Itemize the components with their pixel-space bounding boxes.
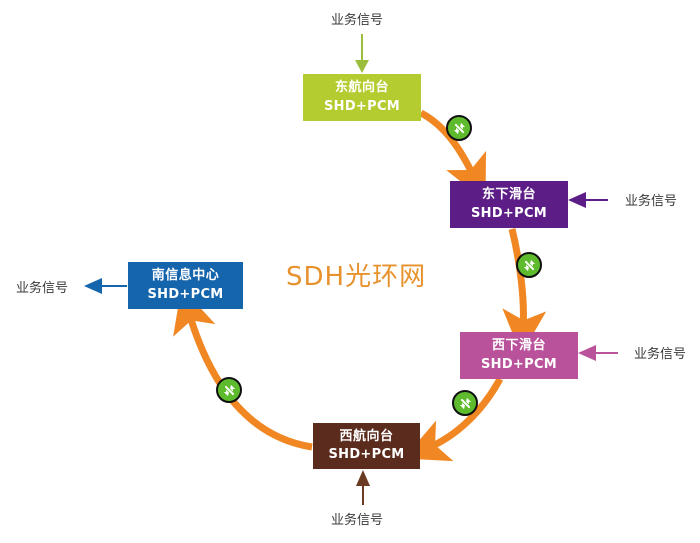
- node-title: 东下滑台: [482, 187, 536, 203]
- signal-connector-west-glide: [578, 345, 618, 361]
- bidirectional-arrow-icon: [452, 121, 467, 136]
- node-title: 东航向台: [335, 80, 389, 96]
- node-title: 西下滑台: [492, 338, 546, 354]
- node-title: 西航向台: [339, 429, 393, 445]
- repeater-2[interactable]: [516, 252, 542, 278]
- signal-connector-south-center: [84, 278, 127, 294]
- node-subtitle: SHD+PCM: [471, 206, 547, 222]
- node-east-nav-station[interactable]: 东航向台 SHD+PCM: [303, 74, 421, 121]
- repeater-1[interactable]: [446, 115, 472, 141]
- bidirectional-arrow-icon: [522, 258, 537, 273]
- node-west-nav-station[interactable]: 西航向台 SHD+PCM: [313, 423, 420, 469]
- center-label-sdh-ring: SDH光环网: [286, 256, 426, 293]
- signal-label-top: 业务信号: [331, 9, 383, 28]
- sdh-ring-network-diagram: 东航向台 SHD+PCM 东下滑台 SHD+PCM 西下滑台 SHD+PCM 西…: [0, 0, 700, 543]
- bidirectional-arrow-icon: [222, 383, 237, 398]
- bidirectional-arrow-icon: [458, 396, 473, 411]
- node-subtitle: SHD+PCM: [328, 447, 404, 463]
- signal-connector-east-glide: [568, 192, 608, 208]
- node-east-glide-station[interactable]: 东下滑台 SHD+PCM: [450, 181, 568, 228]
- signal-label-west-glide: 业务信号: [634, 343, 686, 362]
- signal-connector-bottom: [356, 470, 370, 505]
- ring-segment-west-nav-to-south-center: [189, 313, 312, 447]
- repeater-3[interactable]: [452, 390, 478, 416]
- node-west-glide-station[interactable]: 西下滑台 SHD+PCM: [460, 332, 578, 379]
- signal-connector-top: [355, 34, 369, 73]
- node-subtitle: SHD+PCM: [481, 357, 557, 373]
- signal-label-bottom: 业务信号: [331, 509, 383, 528]
- node-subtitle: SHD+PCM: [324, 99, 400, 115]
- node-south-info-center[interactable]: 南信息中心 SHD+PCM: [128, 262, 243, 309]
- repeater-4[interactable]: [216, 377, 242, 403]
- signal-label-east-glide: 业务信号: [625, 190, 677, 209]
- node-title: 南信息中心: [152, 268, 220, 284]
- ring-segment-east-glide-to-west-glide: [512, 229, 523, 328]
- signal-label-south-center: 业务信号: [16, 277, 68, 296]
- node-subtitle: SHD+PCM: [147, 287, 223, 303]
